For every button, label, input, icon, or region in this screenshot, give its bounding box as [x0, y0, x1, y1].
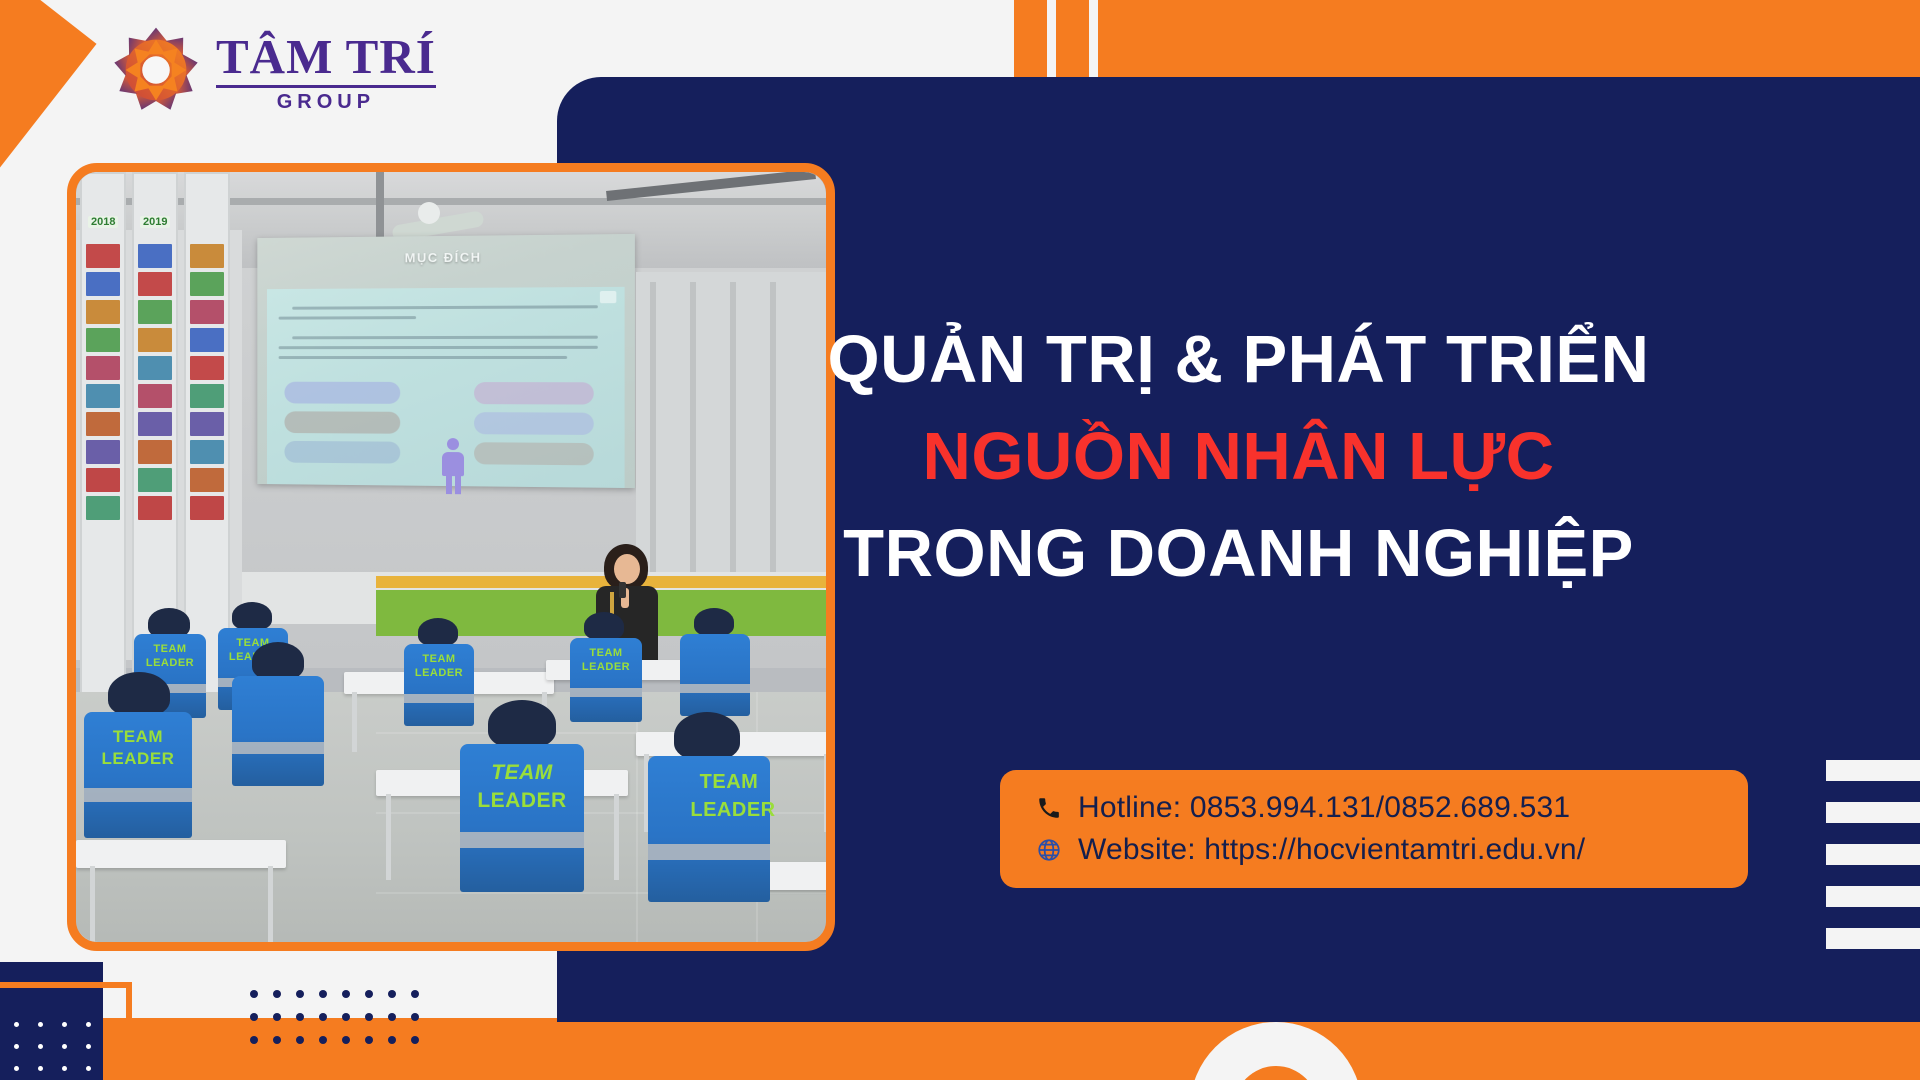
website-text: Website: https://hocvientamtri.edu.vn/ [1078, 833, 1585, 867]
white-dot-grid-square [14, 1022, 110, 1080]
banner-canvas: TÂM TRÍ GROUP [0, 0, 1920, 1080]
headline-line-1: QUẢN TRỊ & PHÁT TRIỂN [557, 320, 1920, 399]
website-row[interactable]: Website: https://hocvientamtri.edu.vn/ [1034, 833, 1714, 867]
navy-dot-grid-bottom [250, 990, 434, 1059]
hotline-text: Hotline: 0853.994.131/0852.689.531 [1078, 791, 1570, 825]
brand-logo[interactable]: TÂM TRÍ GROUP [110, 24, 436, 116]
contact-box: Hotline: 0853.994.131/0852.689.531 Websi… [1000, 770, 1748, 888]
brand-wordmark: TÂM TRÍ GROUP [216, 28, 436, 113]
headline-group: QUẢN TRỊ & PHÁT TRIỂN NGUỒN NHÂN LỰC TRO… [557, 320, 1920, 593]
brand-name: TÂM TRÍ [216, 32, 436, 81]
vest-label-top: TEAM [84, 728, 192, 746]
globe-icon [1034, 835, 1064, 865]
vest-label-bottom: LEADER [84, 750, 192, 768]
slide-title: MỤC ĐÍCH [257, 248, 635, 266]
brand-subtitle: GROUP [216, 91, 436, 113]
headline-line-2: NGUỒN NHÂN LỰC [557, 417, 1920, 496]
top-left-orange-diagonal [0, 0, 97, 170]
headline-line-3: TRONG DOANH NGHIỆP [557, 514, 1920, 593]
mandala-star-icon [110, 24, 202, 116]
hotline-row[interactable]: Hotline: 0853.994.131/0852.689.531 [1034, 791, 1714, 825]
brand-rule [216, 85, 436, 88]
right-edge-white-bars [1790, 760, 1920, 1012]
phone-icon [1034, 793, 1064, 823]
